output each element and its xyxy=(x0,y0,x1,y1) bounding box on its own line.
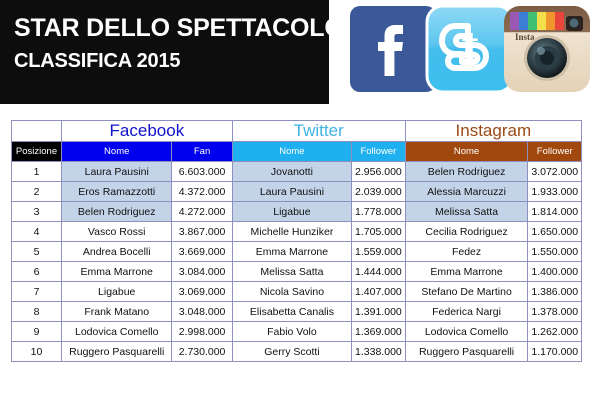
row-facebook-fan: 4.372.000 xyxy=(172,182,232,202)
column-header-facebook-nome: Nome xyxy=(62,142,172,162)
row-instagram-follower: 1.650.000 xyxy=(528,222,582,242)
table-row: 2Eros Ramazzotti4.372.000Laura Pausini2.… xyxy=(12,182,582,202)
row-twitter-follower: 1.407.000 xyxy=(352,282,405,302)
row-twitter-name: Elisabetta Canalis xyxy=(232,302,351,322)
row-instagram-name: Federica Nargi xyxy=(405,302,528,322)
table-body: 1Laura Pausini6.603.000Jovanotti2.956.00… xyxy=(12,162,582,362)
platform-title-instagram: Instagram xyxy=(405,121,581,142)
row-position: 10 xyxy=(12,342,62,362)
header-banner: STAR DELLO SPETTACOLO CLASSIFICA 2015 xyxy=(0,0,329,104)
row-twitter-follower: 1.444.000 xyxy=(352,262,405,282)
table-row: 10Ruggero Pasquarelli2.730.000Gerry Scot… xyxy=(12,342,582,362)
row-facebook-fan: 2.998.000 xyxy=(172,322,232,342)
row-instagram-follower: 1.400.000 xyxy=(528,262,582,282)
row-twitter-name: Michelle Hunziker xyxy=(232,222,351,242)
row-twitter-follower: 1.391.000 xyxy=(352,302,405,322)
row-instagram-follower: 1.814.000 xyxy=(528,202,582,222)
row-facebook-fan: 3.048.000 xyxy=(172,302,232,322)
row-twitter-name: Gerry Scotti xyxy=(232,342,351,362)
row-instagram-follower: 1.262.000 xyxy=(528,322,582,342)
row-facebook-name: Andrea Bocelli xyxy=(62,242,172,262)
column-header-twitter-follower: Follower xyxy=(352,142,405,162)
row-facebook-name: Vasco Rossi xyxy=(62,222,172,242)
instagram-icon: Insta xyxy=(502,4,592,94)
row-position: 5 xyxy=(12,242,62,262)
table-row: 8Frank Matano3.048.000Elisabetta Canalis… xyxy=(12,302,582,322)
row-position: 9 xyxy=(12,322,62,342)
row-facebook-fan: 6.603.000 xyxy=(172,162,232,182)
row-twitter-name: Ligabue xyxy=(232,202,351,222)
page-title: STAR DELLO SPETTACOLO xyxy=(14,14,344,43)
row-instagram-name: Emma Marrone xyxy=(405,262,528,282)
row-instagram-follower: 1.170.000 xyxy=(528,342,582,362)
row-facebook-fan: 3.069.000 xyxy=(172,282,232,302)
row-position: 4 xyxy=(12,222,62,242)
row-instagram-follower: 1.386.000 xyxy=(528,282,582,302)
row-facebook-fan: 2.730.000 xyxy=(172,342,232,362)
row-facebook-name: Emma Marrone xyxy=(62,262,172,282)
column-header-facebook-fan: Fan xyxy=(172,142,232,162)
row-twitter-name: Fabio Volo xyxy=(232,322,351,342)
table-row: 1Laura Pausini6.603.000Jovanotti2.956.00… xyxy=(12,162,582,182)
row-twitter-follower: 1.338.000 xyxy=(352,342,405,362)
row-instagram-follower: 3.072.000 xyxy=(528,162,582,182)
column-header-instagram-nome: Nome xyxy=(405,142,528,162)
social-icons-group: t Insta xyxy=(348,4,596,98)
row-position: 7 xyxy=(12,282,62,302)
row-twitter-name: Nicola Savino xyxy=(232,282,351,302)
row-instagram-name: Cecilia Rodriguez xyxy=(405,222,528,242)
row-twitter-follower: 1.778.000 xyxy=(352,202,405,222)
table-row: 5Andrea Bocelli3.669.000Emma Marrone1.55… xyxy=(12,242,582,262)
platform-title-twitter: Twitter xyxy=(232,121,405,142)
row-instagram-follower: 1.550.000 xyxy=(528,242,582,262)
row-instagram-name: Belen Rodriguez xyxy=(405,162,528,182)
row-instagram-name: Alessia Marcuzzi xyxy=(405,182,528,202)
svg-text:t: t xyxy=(461,17,479,74)
row-twitter-follower: 1.369.000 xyxy=(352,322,405,342)
table-row: 6Emma Marrone3.084.000Melissa Satta1.444… xyxy=(12,262,582,282)
row-instagram-name: Stefano De Martino xyxy=(405,282,528,302)
row-facebook-name: Laura Pausini xyxy=(62,162,172,182)
row-facebook-fan: 4.272.000 xyxy=(172,202,232,222)
row-position: 3 xyxy=(12,202,62,222)
row-position: 6 xyxy=(12,262,62,282)
svg-text:Insta: Insta xyxy=(515,32,535,42)
row-facebook-name: Eros Ramazzotti xyxy=(62,182,172,202)
table-row: 4Vasco Rossi3.867.000Michelle Hunziker1.… xyxy=(12,222,582,242)
row-instagram-name: Ruggero Pasquarelli xyxy=(405,342,528,362)
row-instagram-follower: 1.378.000 xyxy=(528,302,582,322)
row-instagram-name: Fedez xyxy=(405,242,528,262)
row-position: 2 xyxy=(12,182,62,202)
column-header-instagram-follower: Follower xyxy=(528,142,582,162)
column-header-posizione: Posizione xyxy=(12,142,62,162)
row-facebook-name: Ruggero Pasquarelli xyxy=(62,342,172,362)
row-facebook-name: Lodovica Comello xyxy=(62,322,172,342)
row-twitter-name: Emma Marrone xyxy=(232,242,351,262)
table-row: 7Ligabue3.069.000Nicola Savino1.407.000S… xyxy=(12,282,582,302)
page-subtitle: CLASSIFICA 2015 xyxy=(14,50,180,73)
row-twitter-follower: 1.705.000 xyxy=(352,222,405,242)
row-twitter-follower: 1.559.000 xyxy=(352,242,405,262)
row-facebook-name: Belen Rodriguez xyxy=(62,202,172,222)
row-instagram-follower: 1.933.000 xyxy=(528,182,582,202)
row-instagram-name: Lodovica Comello xyxy=(405,322,528,342)
row-position: 1 xyxy=(12,162,62,182)
platform-blank-cell xyxy=(12,121,62,142)
row-instagram-name: Melissa Satta xyxy=(405,202,528,222)
row-twitter-follower: 2.039.000 xyxy=(352,182,405,202)
row-facebook-fan: 3.867.000 xyxy=(172,222,232,242)
row-facebook-name: Frank Matano xyxy=(62,302,172,322)
row-twitter-name: Jovanotti xyxy=(232,162,351,182)
row-position: 8 xyxy=(12,302,62,322)
column-header-twitter-nome: Nome xyxy=(232,142,351,162)
row-facebook-fan: 3.084.000 xyxy=(172,262,232,282)
table-row: 9Lodovica Comello2.998.000Fabio Volo1.36… xyxy=(12,322,582,342)
row-facebook-name: Ligabue xyxy=(62,282,172,302)
table-row: 3Belen Rodriguez4.272.000Ligabue1.778.00… xyxy=(12,202,582,222)
column-header-row: Posizione Nome Fan Nome Follower Nome Fo… xyxy=(12,142,582,162)
platform-title-row: Facebook Twitter Instagram xyxy=(12,121,582,142)
row-twitter-follower: 2.956.000 xyxy=(352,162,405,182)
ranking-table: Facebook Twitter Instagram Posizione Nom… xyxy=(11,120,582,362)
platform-title-facebook: Facebook xyxy=(62,121,233,142)
row-facebook-fan: 3.669.000 xyxy=(172,242,232,262)
row-twitter-name: Laura Pausini xyxy=(232,182,351,202)
row-twitter-name: Melissa Satta xyxy=(232,262,351,282)
